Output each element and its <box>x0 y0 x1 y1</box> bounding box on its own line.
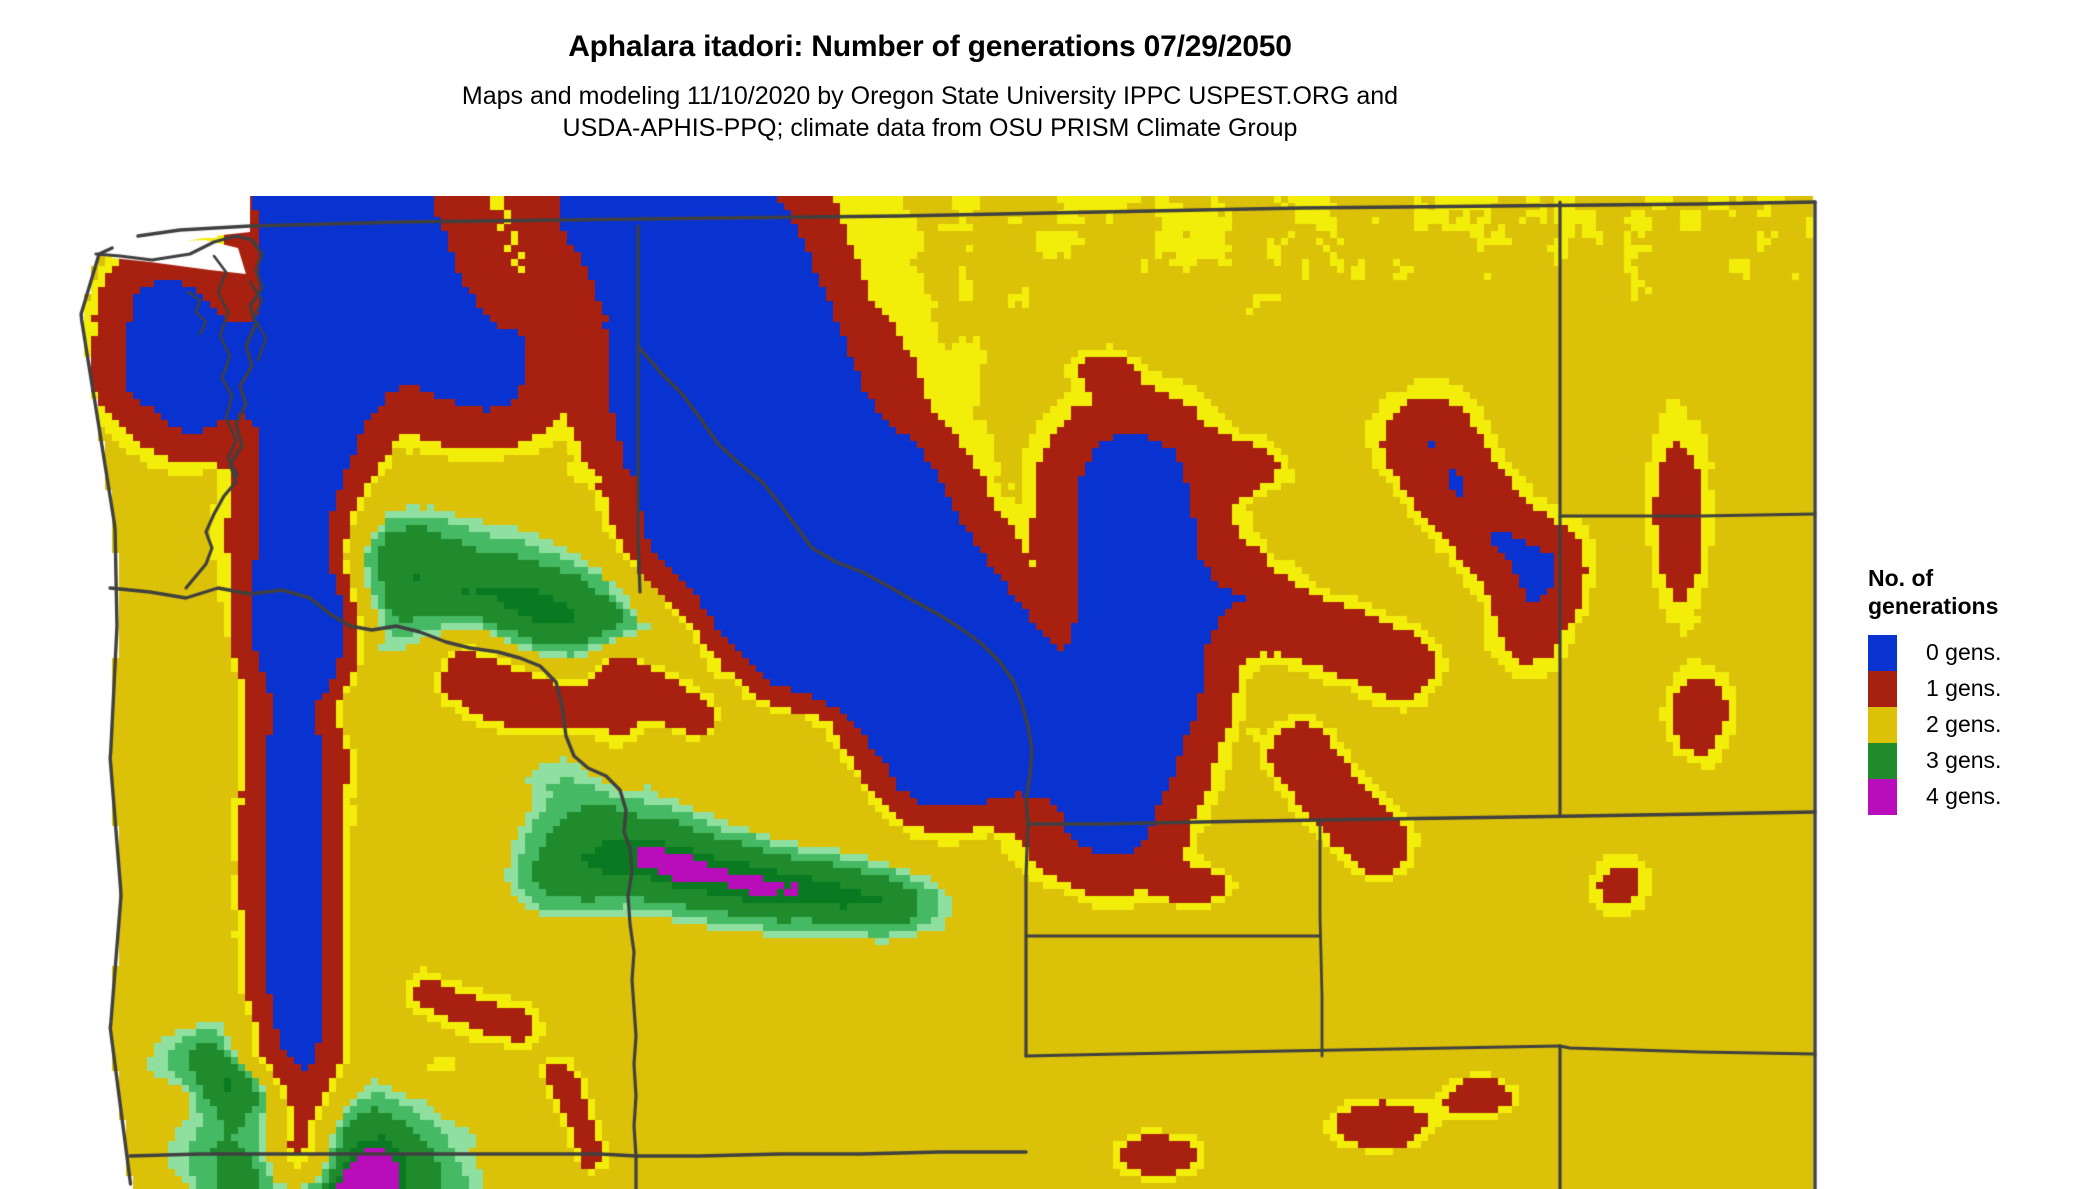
subtitle-line-1: Maps and modeling 11/10/2020 by Oregon S… <box>0 80 1860 112</box>
subtitle-block: Maps and modeling 11/10/2020 by Oregon S… <box>0 80 1860 144</box>
legend-item-label: 3 gens. <box>1926 747 2001 774</box>
legend-item-0-gens: 0 gens. <box>1868 635 2078 671</box>
legend-item-label: 4 gens. <box>1926 783 2001 810</box>
legend-swatch-icon <box>1868 707 1897 743</box>
legend-item-label: 1 gens. <box>1926 675 2001 702</box>
legend-item-4-gens: 4 gens. <box>1868 779 2078 815</box>
map-page: Aphalara itadori: Number of generations … <box>0 0 2100 1189</box>
title-block: Aphalara itadori: Number of generations … <box>0 0 1860 144</box>
legend-item-label: 2 gens. <box>1926 711 2001 738</box>
legend-rows: 0 gens.1 gens.2 gens.3 gens.4 gens. <box>1868 635 2078 815</box>
legend-item-label: 0 gens. <box>1926 639 2001 666</box>
legend-swatch-icon <box>1868 671 1897 707</box>
legend-item-2-gens: 2 gens. <box>1868 707 2078 743</box>
legend-swatch-icon <box>1868 743 1897 779</box>
legend-swatch-icon <box>1868 779 1897 815</box>
legend-item-1-gens: 1 gens. <box>1868 671 2078 707</box>
legend: No. of generations 0 gens.1 gens.2 gens.… <box>1868 564 2078 815</box>
legend-title: No. of generations <box>1868 564 2078 621</box>
legend-swatch-icon <box>1868 635 1897 671</box>
generations-raster-map[interactable] <box>0 196 1838 1189</box>
subtitle-line-2: USDA-APHIS-PPQ; climate data from OSU PR… <box>0 112 1860 144</box>
map-container[interactable] <box>0 196 1838 1189</box>
page-title: Aphalara itadori: Number of generations … <box>0 30 1860 63</box>
legend-item-3-gens: 3 gens. <box>1868 743 2078 779</box>
